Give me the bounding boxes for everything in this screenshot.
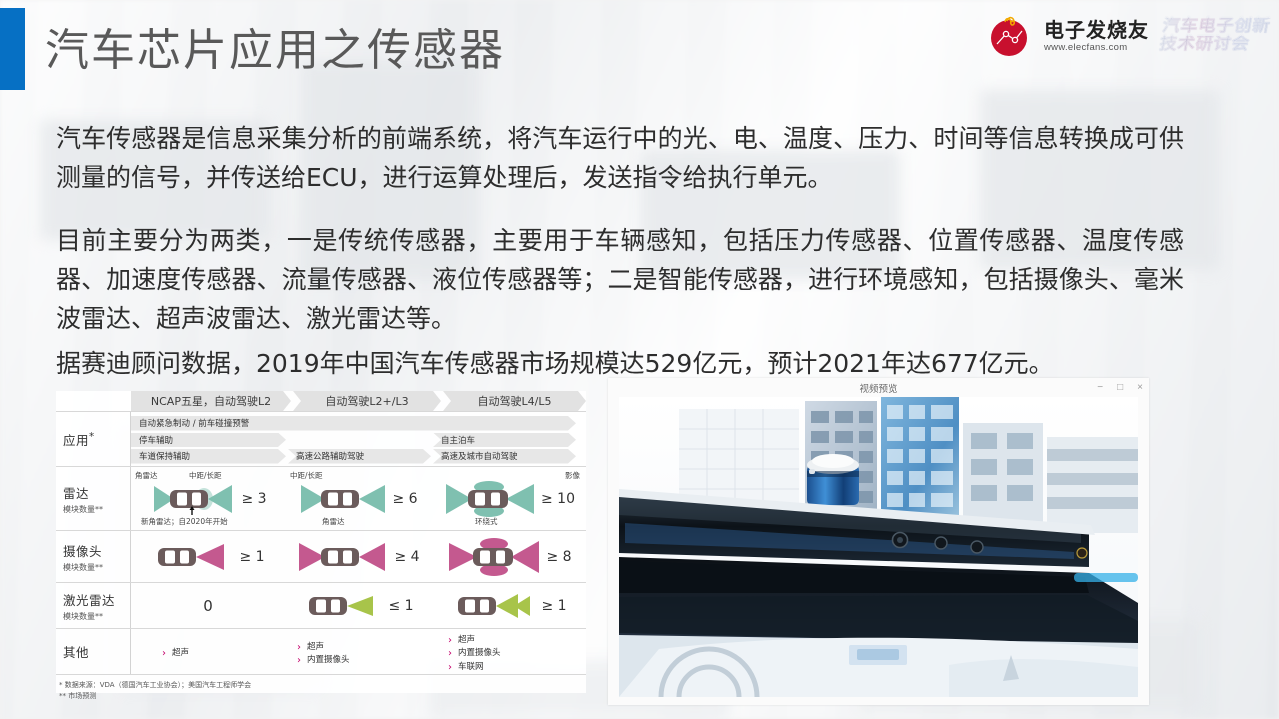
application-highway-assist: 高速公路辅助驾驶 xyxy=(288,449,431,464)
other-item: 内置摄像头 xyxy=(447,647,501,660)
row-label-radar-sub: 模块数量** xyxy=(63,504,130,515)
radar-caption-imaging-3: 影像 xyxy=(565,470,580,481)
other-cell-l2: 超声 xyxy=(131,634,282,674)
video-preview-window[interactable]: 视频预览 − □ × xyxy=(608,378,1149,705)
page-title: 汽车芯片应用之传感器 xyxy=(45,14,505,78)
radar-cell-l2: 角雷达 中距/长距 ≥ 3 新角雷达；自2020年开始 xyxy=(131,467,282,530)
radar-car-diagram-l2plus xyxy=(297,479,389,519)
radar-cells: 角雷达 中距/长距 ≥ 3 新角雷达；自2020年开始 xyxy=(131,467,586,530)
event-title: 汽车电子创新 技术研讨会 xyxy=(1158,18,1272,54)
table-row-camera: 摄像头 模块数量** ≥ 1 xyxy=(56,530,586,582)
lidar-cell-l2plus: ≤ 1 xyxy=(282,583,433,628)
application-parking-assist: 停车辅助 xyxy=(131,433,286,448)
row-label-applications: 应用* xyxy=(56,412,131,466)
application-auto-valet-parking: 自主泊车 xyxy=(433,433,576,448)
table-row-other: 其他 超声 超声 内置摄像头 超声 内置摄像头 xyxy=(56,628,586,674)
row-label-radar: 雷达 模块数量** xyxy=(56,467,131,530)
radar-car-diagram-l4l5 xyxy=(442,479,538,519)
other-cell-l4l5: 超声 内置摄像头 车联网 xyxy=(433,634,584,674)
brand-logo-area: 电子发烧友 www.elecfans.com 汽车电子创新 技术研讨会 xyxy=(988,14,1269,58)
radar-caption-bottom-2: 角雷达 xyxy=(322,516,345,527)
other-list-l2: 超声 xyxy=(161,647,189,660)
maximize-icon[interactable]: □ xyxy=(1117,383,1123,393)
table-row-lidar: 激光雷达 模块数量** 0 ≤ 1 xyxy=(56,582,586,628)
lidar-count-l4l5: ≥ 1 xyxy=(541,598,566,614)
lidar-sensor xyxy=(807,454,859,505)
other-item: 超声 xyxy=(161,647,189,660)
footnote-2: ** 市场预测 xyxy=(56,691,586,702)
radar-car-diagram-l2 xyxy=(146,479,238,519)
lidar-cells: 0 ≤ 1 xyxy=(131,583,586,628)
other-list-l4l5: 超声 内置摄像头 车联网 xyxy=(447,634,501,674)
other-cell-l2plus: 超声 内置摄像头 xyxy=(282,634,433,674)
lidar-count-l2: 0 xyxy=(203,597,213,615)
brand-name: 电子发烧友 xyxy=(1044,20,1149,40)
lidar-cell-l4l5: ≥ 1 xyxy=(433,583,584,628)
paragraph-1: 汽车传感器是信息采集分析的前端系统，将汽车运行中的光、电、温度、压力、时间等信息… xyxy=(56,120,1184,198)
camera-cell-l2: ≥ 1 xyxy=(131,531,282,582)
column-header-l2: NCAP五星，自动驾驶L2 xyxy=(131,391,291,411)
camera-cell-l4l5: ≥ 8 xyxy=(433,531,584,582)
minimize-icon[interactable]: − xyxy=(1097,383,1103,393)
row-label-lidar-text: 激光雷达 xyxy=(63,590,130,609)
row-label-applications-text: 应用 xyxy=(63,433,89,448)
video-preview-titlebar[interactable]: 视频预览 − □ × xyxy=(608,378,1149,397)
table-row-radar: 雷达 模块数量** 角雷达 中距/长距 xyxy=(56,466,586,530)
table-header-row: NCAP五星，自动驾驶L2 自动驾驶L2+/L3 自动驾驶L4/L5 xyxy=(131,391,586,411)
radar-cell-l2plus: 中距/长距 ≥ 6 角雷达 xyxy=(282,467,433,530)
lidar-car-diagram-l4l5 xyxy=(450,590,538,622)
other-item: 内置摄像头 xyxy=(296,654,350,667)
table-footnotes: * 数据来源：VDA（德国汽车工业协会）；美国汽车工程师学会 ** 市场预测 xyxy=(56,674,586,702)
close-icon[interactable]: × xyxy=(1137,383,1143,393)
radar-caption-range-2: 中距/长距 xyxy=(290,470,323,481)
camera-car-diagram-l2 xyxy=(148,538,236,576)
row-label-other: 其他 xyxy=(56,629,131,674)
application-aeb: 自动紧急制动 / 前车碰撞预警 xyxy=(131,416,576,431)
lidar-count-l2plus: ≤ 1 xyxy=(388,598,413,614)
application-band-1: 自动紧急制动 / 前车碰撞预警 xyxy=(131,416,586,431)
table-row-applications: 应用* 自动紧急制动 / 前车碰撞预警 停车辅助 自主泊车 车道保持辅助 高速公… xyxy=(56,411,586,466)
video-preview-stage[interactable] xyxy=(619,397,1138,697)
camera-count-l4l5: ≥ 8 xyxy=(546,549,571,565)
row-label-other-text: 其他 xyxy=(63,642,130,661)
sensor-configuration-table: NCAP五星，自动驾驶L2 自动驾驶L2+/L3 自动驾驶L4/L5 应用* 自… xyxy=(56,391,586,693)
column-header-l2plus: 自动驾驶L2+/L3 xyxy=(293,391,441,411)
video-preview-title: 视频预览 xyxy=(859,381,897,395)
radar-caption-bottom-1: 新角雷达；自2020年开始 xyxy=(141,516,228,527)
application-band-2: 停车辅助 自主泊车 xyxy=(131,433,586,448)
radar-caption-bottom-3: 环绕式 xyxy=(475,516,498,527)
footnote-1: * 数据来源：VDA（德国汽车工业协会）；美国汽车工程师学会 xyxy=(56,675,586,691)
radar-caption-range-1: 中距/长距 xyxy=(189,470,222,481)
other-list-l2plus: 超声 内置摄像头 xyxy=(296,641,350,667)
camera-car-diagram-l2plus xyxy=(295,538,391,576)
brand-url: www.elecfans.com xyxy=(1044,43,1149,53)
elecfans-logo-icon xyxy=(988,14,1032,58)
lidar-cell-l2: 0 xyxy=(131,583,282,628)
row-label-lidar: 激光雷达 模块数量** xyxy=(56,583,131,628)
row-label-lidar-sub: 模块数量** xyxy=(63,611,130,622)
camera-count-l2: ≥ 1 xyxy=(239,549,264,565)
event-title-line2: 技术研讨会 xyxy=(1158,36,1269,54)
other-cells: 超声 超声 内置摄像头 超声 内置摄像头 车联网 xyxy=(131,629,586,674)
other-item: 车联网 xyxy=(447,661,501,674)
radar-caption-corner-1: 角雷达 xyxy=(135,470,158,481)
radar-count-l2: ≥ 3 xyxy=(241,491,266,507)
other-item: 超声 xyxy=(296,641,350,654)
camera-count-l2plus: ≥ 4 xyxy=(394,549,419,565)
row-label-camera-text: 摄像头 xyxy=(63,541,130,560)
autonomous-vehicle-lidar-photo xyxy=(619,397,1138,697)
application-lane-keep: 车道保持辅助 xyxy=(131,449,286,464)
column-header-l4l5: 自动驾驶L4/L5 xyxy=(443,391,586,411)
camera-cell-l2plus: ≥ 4 xyxy=(282,531,433,582)
row-label-camera: 摄像头 模块数量** xyxy=(56,531,131,582)
row-label-radar-text: 雷达 xyxy=(63,483,130,502)
lidar-car-diagram-l2plus xyxy=(301,590,385,622)
camera-cells: ≥ 1 ≥ 4 xyxy=(131,531,586,582)
camera-car-diagram-l4l5 xyxy=(445,536,543,578)
other-item: 超声 xyxy=(447,634,501,647)
title-accent-bar xyxy=(0,8,25,90)
row-label-camera-sub: 模块数量** xyxy=(63,562,130,573)
application-band-3: 车道保持辅助 高速公路辅助驾驶 高速及城市自动驾驶 xyxy=(131,449,586,464)
radar-count-l4l5: ≥ 10 xyxy=(541,491,575,507)
paragraph-2: 目前主要分为两类，一是传统传感器，主要用于车辆感知，包括压力传感器、位置传感器、… xyxy=(56,222,1184,338)
applications-bands: 自动紧急制动 / 前车碰撞预警 停车辅助 自主泊车 车道保持辅助 高速公路辅助驾… xyxy=(131,412,586,466)
window-controls: − □ × xyxy=(1097,378,1143,397)
application-highway-urban-auto: 高速及城市自动驾驶 xyxy=(433,449,576,464)
radar-cell-l4l5: 影像 ≥ 10 环绕式 xyxy=(433,467,584,530)
radar-count-l2plus: ≥ 6 xyxy=(392,491,417,507)
row-label-applications-sup: * xyxy=(89,430,95,442)
